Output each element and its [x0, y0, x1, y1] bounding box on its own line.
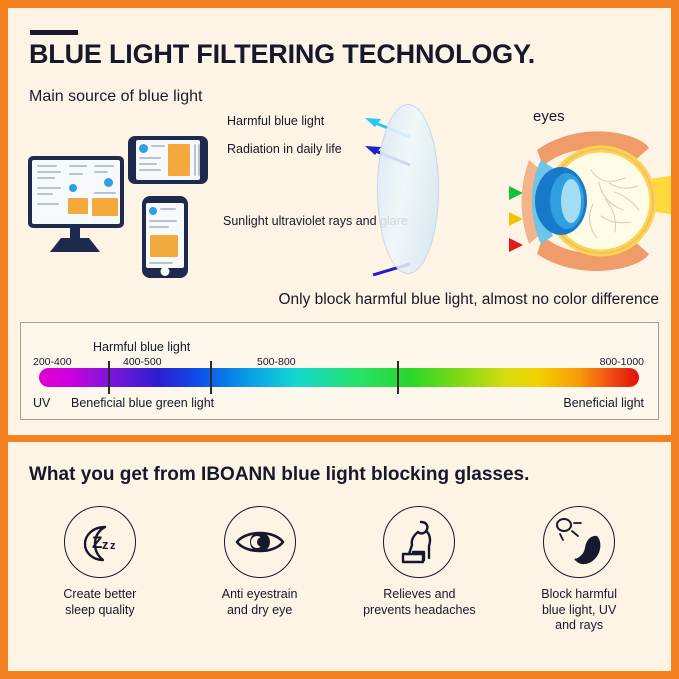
benefit-label-block: Block harmfulblue light, UVand rays — [541, 587, 617, 634]
spectrum-harmful-label: Harmful blue light — [93, 340, 190, 354]
poster-inner: BLUE LIGHT FILTERING TECHNOLOGY. Main so… — [8, 8, 671, 671]
spectrum-range-500-800: 500-800 — [257, 356, 296, 368]
eyes-label: eyes — [533, 108, 565, 125]
spectrum-tick-2 — [210, 361, 212, 394]
light-ray-group: Harmful blue light Radiation in daily li… — [213, 106, 533, 276]
benefit-item-headache: Relieves andprevents headaches — [344, 506, 494, 618]
sun-face-glasses-icon — [543, 506, 615, 578]
ray-label-radiation: Radiation in daily life — [227, 142, 342, 156]
section-divider — [8, 435, 671, 442]
benefit-item-eyestrain: Anti eyestrainand dry eye — [185, 506, 335, 618]
ray-label-harmful-blue: Harmful blue light — [227, 114, 324, 128]
tablet-icon — [128, 136, 208, 184]
monitor-icon — [28, 156, 124, 228]
svg-text:z: z — [110, 540, 116, 552]
page-title: BLUE LIGHT FILTERING TECHNOLOGY. — [29, 39, 535, 70]
benefits-row: Z z z Create bettersleep quality — [20, 506, 659, 656]
spectrum-tick-3 — [397, 361, 399, 394]
spectrum-panel: Harmful blue light 200-400 400-500 500-8… — [20, 322, 659, 420]
spectrum-tick-1 — [108, 361, 110, 394]
title-rule — [30, 30, 78, 35]
device-illustration-group — [22, 128, 212, 283]
moon-zzz-icon: Z z z — [64, 506, 136, 578]
benefit-label-sleep: Create bettersleep quality — [63, 587, 136, 618]
svg-text:Z: Z — [92, 533, 102, 552]
eye-anatomy-diagram: eyes — [513, 104, 671, 284]
eyeglass-lens-shape — [377, 104, 439, 274]
spectrum-range-400-500: 400-500 — [123, 356, 162, 368]
infographic-poster: BLUE LIGHT FILTERING TECHNOLOGY. Main so… — [0, 0, 679, 679]
subtitle: Main source of blue light — [29, 88, 202, 106]
spectrum-beneficial-bluegreen-label: Beneficial blue green light — [71, 396, 214, 410]
rays-svg — [213, 106, 533, 276]
benefits-heading: What you get from IBOANN blue light bloc… — [29, 464, 529, 486]
benefit-label-eyestrain: Anti eyestrainand dry eye — [222, 587, 298, 618]
svg-text:z: z — [102, 537, 109, 552]
eye-icon — [224, 506, 296, 578]
phone-icon — [142, 196, 188, 278]
eye-anatomy-svg — [513, 104, 671, 284]
spectrum-beneficial-light-label: Beneficial light — [563, 396, 644, 410]
benefit-item-sleep: Z z z Create bettersleep quality — [25, 506, 175, 618]
spectrum-range-800-1000: 800-1000 — [600, 356, 644, 368]
phone-home-button — [161, 267, 170, 276]
benefit-item-block: Block harmfulblue light, UVand rays — [504, 506, 654, 634]
benefit-label-headache: Relieves andprevents headaches — [363, 587, 476, 618]
lens-benefit-caption: Only block harmful blue light, almost no… — [278, 291, 659, 309]
light-spectrum-gradient-bar — [39, 368, 639, 387]
headache-person-icon — [383, 506, 455, 578]
spectrum-uv-label: UV — [33, 396, 50, 410]
monitor-base — [50, 238, 100, 252]
spectrum-range-200-400: 200-400 — [33, 356, 72, 368]
